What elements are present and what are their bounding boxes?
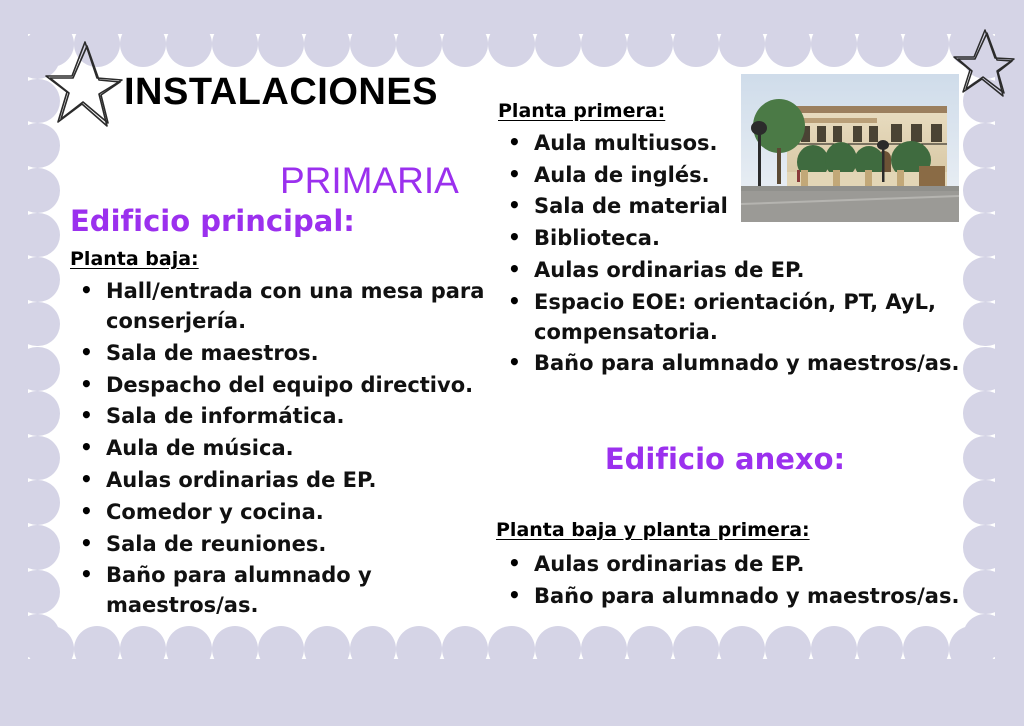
list-item: Espacio EOE: orientación, PT, AyL, compe… — [490, 288, 960, 348]
list-item: Aulas ordinarias de EP. — [490, 550, 960, 580]
page-title: INSTALACIONES — [124, 72, 438, 114]
list-item: Sala de reuniones. — [62, 530, 502, 560]
floor-title-planta-baja: Planta baja: — [70, 248, 502, 271]
list-item: Biblioteca. — [490, 224, 960, 254]
annex-installations-list: Aulas ordinarias de EP.Baño para alumnad… — [490, 550, 960, 612]
page-subtitle: PRIMARIA — [280, 161, 459, 202]
floor-title-planta-baja-y-primera: Planta baja y planta primera: — [496, 519, 960, 542]
list-item: Baño para alumnado y maestros/as. — [62, 561, 502, 621]
section-title-edificio-principal: Edificio principal: — [70, 205, 502, 238]
left-installations-list: Hall/entrada con una mesa para conserjer… — [62, 277, 502, 621]
list-item: Baño para alumnado y maestros/as. — [490, 349, 960, 379]
school-building-photo — [741, 74, 959, 222]
section-title-edificio-anexo: Edificio anexo: — [490, 443, 960, 476]
list-item: Sala de maestros. — [62, 339, 502, 369]
list-item: Sala de informática. — [62, 402, 502, 432]
list-item: Despacho del equipo directivo. — [62, 371, 502, 401]
annex-block: Edificio anexo: Planta baja y planta pri… — [490, 443, 960, 614]
left-column: Edificio principal: Planta baja: Hall/en… — [62, 205, 502, 623]
list-item: Aula de música. — [62, 434, 502, 464]
slide-canvas: INSTALACIONES PRIMARIA Edificio principa… — [0, 0, 1024, 726]
list-item: Aulas ordinarias de EP. — [62, 466, 502, 496]
list-item: Baño para alumnado y maestros/as. — [490, 582, 960, 612]
list-item: Hall/entrada con una mesa para conserjer… — [62, 277, 502, 337]
list-item: Aulas ordinarias de EP. — [490, 256, 960, 286]
list-item: Comedor y cocina. — [62, 498, 502, 528]
